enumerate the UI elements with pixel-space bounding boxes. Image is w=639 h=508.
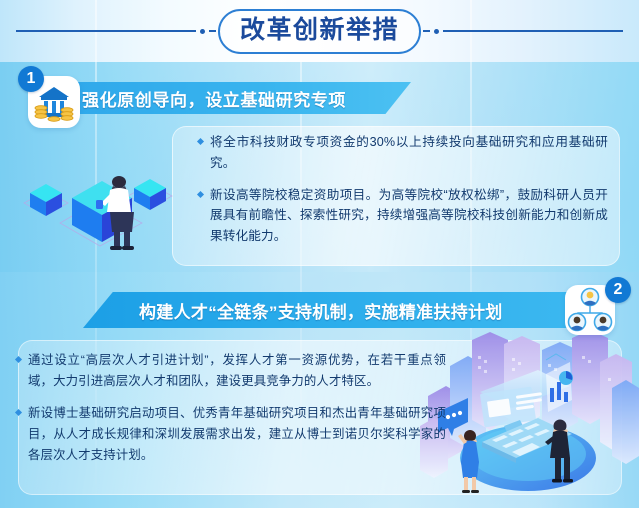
list-item: 新设博士基础研究启动项目、优秀青年基础研究项目和杰出青年基础研究项目，从人才成长… [16,403,446,466]
list-item: 通过设立“高层次人才引进计划”，发挥人才第一资源优势，在若干重点领域，大力引进高… [16,350,446,392]
page-title-text: 改革创新举措 [240,16,399,44]
title-rule-right [443,30,623,32]
section-1-bullet-text: 将全市科技财政专项资金的30%以上持续投向基础研究和应用基础研究。 [210,132,608,174]
section-2-heading-banner: 构建人才“全链条”支持机制，实施精准扶持计划 [83,292,580,328]
title-dot-left [200,29,205,34]
list-item: 将全市科技财政专项资金的30%以上持续投向基础研究和应用基础研究。 [198,132,608,174]
section-2-number: 2 [614,281,623,299]
section-2-bullet-list: 通过设立“高层次人才引进计划”，发挥人才第一资源优势，在若干重点领域，大力引进高… [16,350,446,477]
section-1-number: 1 [27,70,36,88]
isometric-city-workstation-illustration [420,330,639,508]
section-2-bullet-text: 新设博士基础研究启动项目、优秀青年基础研究项目和杰出青年基础研究项目，从人才成长… [28,403,446,466]
section-1-bullet-list: 将全市科技财政专项资金的30%以上持续投向基础研究和应用基础研究。 新设高等院校… [198,132,608,258]
bullet-dot-icon [197,190,204,197]
section-1-heading-text: 强化原创导向，设立基础研究专项 [82,86,346,111]
bullet-dot-icon [15,409,22,416]
section-2-number-badge: 2 [605,277,631,303]
section-2-heading-text: 构建人才“全链条”支持机制，实施精准扶持计划 [139,298,503,323]
isometric-cubes-person-illustration [2,150,184,270]
title-tick-right [423,30,430,32]
section-1-heading-banner: 强化原创导向，设立基础研究专项 [46,82,411,114]
bullet-dot-icon [15,356,22,363]
title-tick-left [209,30,216,32]
infographic-poster: 改革创新举措 强化原创导向，设立基础研究专项 [0,0,639,508]
section-2-bullet-text: 通过设立“高层次人才引进计划”，发挥人才第一资源优势，在若干重点领域，大力引进高… [28,350,446,392]
poster-title-row: 改革创新举措 [0,0,639,62]
list-item: 新设高等院校稳定资助项目。为高等院校“放权松绑”，鼓励科研人员开展具有前瞻性、探… [198,185,608,247]
title-rule-left [16,30,196,32]
title-dot-right [434,29,439,34]
page-title: 改革创新举措 [218,9,421,54]
section-1-number-badge: 1 [18,66,44,92]
bullet-dot-icon [197,138,204,145]
section-1-bullet-text: 新设高等院校稳定资助项目。为高等院校“放权松绑”，鼓励科研人员开展具有前瞻性、探… [210,185,608,247]
